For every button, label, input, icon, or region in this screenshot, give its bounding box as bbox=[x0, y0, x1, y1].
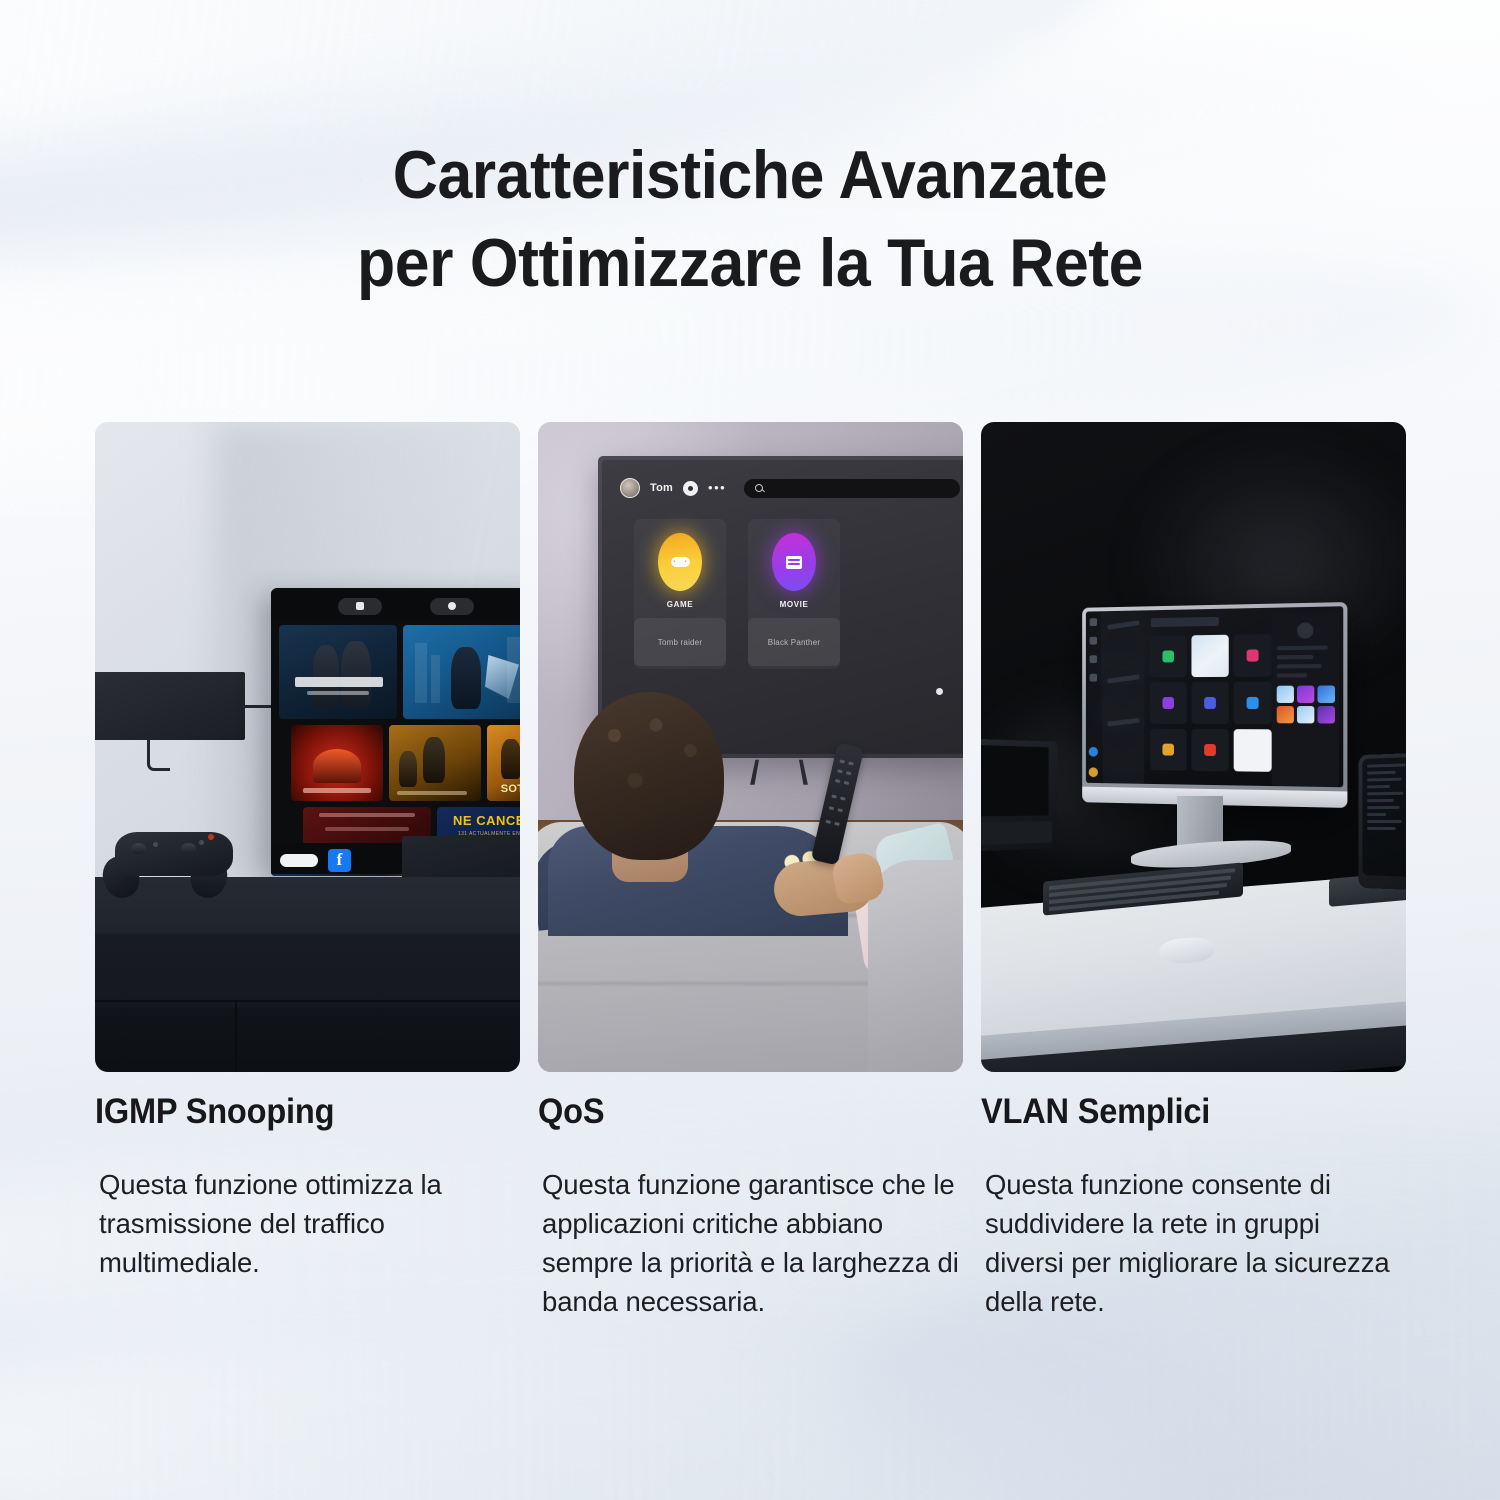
feature-description: Questa funzione consente di suddividere … bbox=[985, 1165, 1405, 1321]
poster-tile-3 bbox=[291, 725, 383, 801]
tv-top-bar bbox=[271, 591, 520, 621]
main-content-area bbox=[1147, 614, 1269, 786]
rail-icon-2 bbox=[1090, 637, 1097, 645]
feature-title: VLAN Semplici bbox=[981, 1094, 1376, 1131]
feature-text-row: IGMP Snooping Questa funzione ottimizza … bbox=[95, 1094, 1415, 1434]
tv-content-grid: SOTL NE CANCE 131 ACTUALMENTE EN bbox=[277, 625, 520, 840]
image-thumbnail bbox=[1191, 635, 1228, 677]
poster-tile-5-title: SOTL bbox=[489, 783, 520, 795]
search-icon bbox=[755, 484, 763, 492]
poster-banner-title: NE CANCE bbox=[437, 813, 520, 828]
navigation-column bbox=[1103, 616, 1145, 784]
feature-text-qos: QoS Questa funzione garantisce che le ap… bbox=[538, 1094, 963, 1434]
movie-orb bbox=[772, 533, 816, 591]
mode-label-game: GAME bbox=[667, 600, 693, 609]
page-title-line-1: Caratteristiche Avanzate bbox=[60, 140, 1440, 210]
laptop bbox=[981, 738, 1057, 852]
file-tile bbox=[1150, 729, 1187, 771]
tv-stand bbox=[750, 760, 808, 785]
wall-dot bbox=[936, 688, 943, 695]
controller-dpad bbox=[153, 842, 158, 847]
file-tile bbox=[1234, 634, 1272, 677]
recent-thumbnails bbox=[1277, 685, 1334, 723]
poster-tile-1 bbox=[279, 625, 397, 719]
monitor-stand bbox=[1177, 796, 1223, 848]
speaker-bracket bbox=[147, 740, 170, 771]
console-seam bbox=[95, 1000, 520, 1002]
film-icon bbox=[786, 556, 802, 569]
feature-image-row: SOTL NE CANCE 131 ACTUALMENTE EN f bbox=[95, 422, 1405, 1072]
file-tile bbox=[1191, 729, 1228, 771]
movie-title: Black Panther bbox=[768, 638, 820, 647]
controller-stick-right bbox=[181, 843, 196, 854]
console-table bbox=[95, 877, 520, 1072]
feature-title: QoS bbox=[538, 1094, 933, 1131]
poster-tile-5: SOTL bbox=[487, 725, 520, 801]
user-name: Tom bbox=[650, 482, 673, 494]
feature-description: Questa funzione ottimizza la trasmission… bbox=[99, 1165, 519, 1282]
lock-icon bbox=[338, 598, 382, 615]
all-in-one-monitor bbox=[1082, 602, 1347, 808]
page-title-line-2: per Ottimizzare la Tua Rete bbox=[60, 228, 1440, 298]
poster-tile-4 bbox=[389, 725, 481, 801]
controller-buttons bbox=[199, 840, 204, 845]
phone-screen bbox=[1362, 757, 1406, 877]
app-rail bbox=[1086, 611, 1101, 787]
console-drawer-divider bbox=[235, 1002, 237, 1072]
poster-tile-2 bbox=[403, 625, 520, 719]
feature-title: IGMP Snooping bbox=[95, 1094, 490, 1131]
rail-icon-4 bbox=[1090, 674, 1097, 682]
facebook-icon: f bbox=[328, 849, 351, 872]
person-hair bbox=[580, 698, 718, 848]
rail-icon-3 bbox=[1090, 655, 1097, 663]
controller-stick-left bbox=[131, 843, 146, 854]
rail-avatar-blue bbox=[1089, 747, 1098, 757]
game-title: Tomb raider bbox=[658, 638, 702, 647]
avatar bbox=[620, 478, 640, 498]
profile-circle bbox=[1297, 622, 1313, 639]
mode-label-movie: MOVIE bbox=[780, 600, 809, 609]
file-tile bbox=[1150, 635, 1187, 677]
file-tile bbox=[1191, 682, 1228, 724]
feature-image-qos: Tom ••• •• GAME bbox=[538, 422, 963, 1072]
gear-icon bbox=[430, 598, 474, 615]
game-orb: •• bbox=[658, 533, 702, 591]
feature-image-igmp-snooping: SOTL NE CANCE 131 ACTUALMENTE EN f bbox=[95, 422, 520, 1072]
game-controller bbox=[115, 832, 233, 876]
content-toolbar bbox=[1151, 617, 1219, 627]
document-preview bbox=[1234, 729, 1272, 772]
smart-tv-screen: SOTL NE CANCE 131 ACTUALMENTE EN f bbox=[271, 588, 520, 876]
app-pill-youtube bbox=[280, 854, 318, 867]
movie-title-box[interactable]: Black Panther bbox=[748, 618, 840, 666]
page-root: Caratteristiche Avanzate per Ottimizzare… bbox=[0, 0, 1500, 1500]
mode-tile-movie[interactable]: MOVIE Black Panther bbox=[748, 519, 840, 669]
mode-tile-game[interactable]: •• GAME Tomb raider bbox=[634, 519, 726, 669]
laptop-keyboard bbox=[981, 821, 1052, 845]
gear-icon[interactable] bbox=[683, 481, 698, 496]
mode-tiles: •• GAME Tomb raider MOVIE bbox=[634, 519, 954, 669]
rail-avatar-yellow bbox=[1089, 767, 1098, 777]
file-tile-grid bbox=[1147, 634, 1269, 772]
file-tile bbox=[1234, 682, 1272, 725]
controller-led bbox=[208, 834, 214, 840]
gamepad-icon: •• bbox=[671, 557, 690, 567]
laptop-screen bbox=[981, 744, 1049, 816]
page-title: Caratteristiche Avanzate per Ottimizzare… bbox=[0, 140, 1500, 298]
feature-image-vlan bbox=[981, 422, 1406, 1072]
feature-text-igmp-snooping: IGMP Snooping Questa funzione ottimizza … bbox=[95, 1094, 520, 1434]
file-tile bbox=[1150, 682, 1187, 724]
rail-icon-1 bbox=[1090, 618, 1097, 626]
feature-text-vlan: VLAN Semplici Questa funzione consente d… bbox=[981, 1094, 1406, 1434]
search-input[interactable] bbox=[744, 479, 960, 498]
game-title-box[interactable]: Tomb raider bbox=[634, 618, 726, 666]
wall-speaker bbox=[95, 672, 245, 740]
tv-ui-top-bar: Tom ••• bbox=[620, 477, 960, 499]
sofa-armrest bbox=[868, 860, 963, 1072]
more-options-icon[interactable]: ••• bbox=[708, 484, 726, 492]
details-panel bbox=[1272, 613, 1339, 788]
monitor-screen bbox=[1086, 606, 1343, 787]
smartphone bbox=[1359, 753, 1406, 890]
feature-description: Questa funzione garantisce che le applic… bbox=[542, 1165, 962, 1321]
